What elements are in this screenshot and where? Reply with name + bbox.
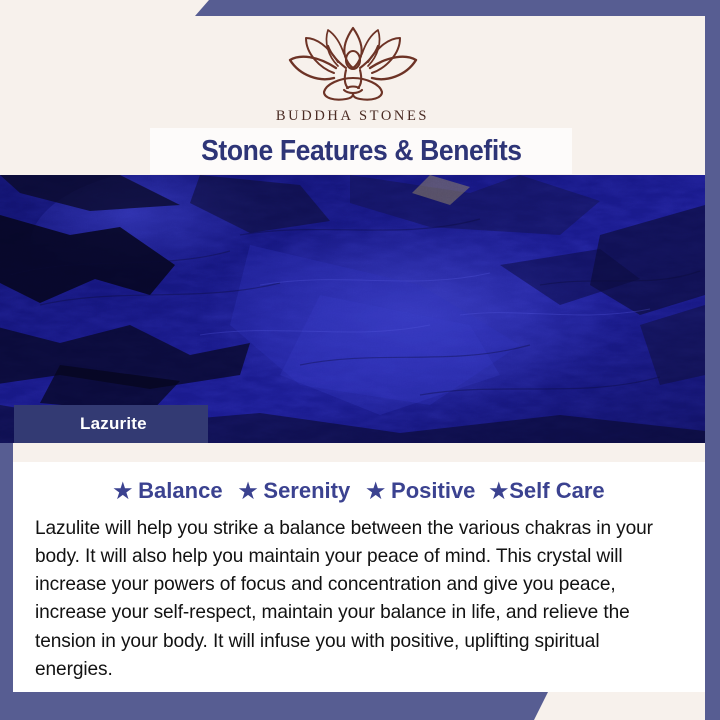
stone-name: Lazurite <box>80 414 147 434</box>
benefits-row: ★ Balance ★ Serenity ★ Positive ★ Self C… <box>13 478 705 504</box>
benefit-item: ★ Positive <box>366 478 475 504</box>
star-icon: ★ <box>113 481 132 502</box>
benefit-label: Self Care <box>509 478 604 504</box>
divider-strip <box>13 443 705 462</box>
brand-logo: BUDDHA STONES <box>276 26 429 125</box>
star-icon: ★ <box>489 481 508 502</box>
frame-right-accent <box>705 0 720 720</box>
benefit-item: ★ Serenity <box>239 478 351 504</box>
stone-photo-texture <box>0 175 705 443</box>
stone-name-banner: Lazurite <box>14 405 208 443</box>
brand-name: BUDDHA STONES <box>276 108 429 125</box>
lotus-meditation-icon <box>278 26 428 104</box>
stone-photo <box>0 175 705 443</box>
benefit-item: ★ Self Care <box>489 478 604 504</box>
star-icon: ★ <box>366 481 385 502</box>
stone-info-card: BUDDHA STONES Stone Features & Benefits <box>0 0 720 720</box>
description-panel: ★ Balance ★ Serenity ★ Positive ★ Self C… <box>13 462 705 692</box>
benefit-label: Serenity <box>263 478 350 504</box>
benefit-item: ★ Balance <box>113 478 222 504</box>
frame-top-accent <box>195 0 720 16</box>
page-title: Stone Features & Benefits <box>201 135 522 168</box>
benefit-label: Balance <box>138 478 222 504</box>
frame-left-accent <box>0 443 13 708</box>
frame-bottom-accent <box>0 692 548 720</box>
description-text: Lazulite will help you strike a balance … <box>35 514 673 683</box>
title-panel: Stone Features & Benefits <box>150 128 572 174</box>
star-icon: ★ <box>239 481 258 502</box>
benefit-label: Positive <box>391 478 475 504</box>
